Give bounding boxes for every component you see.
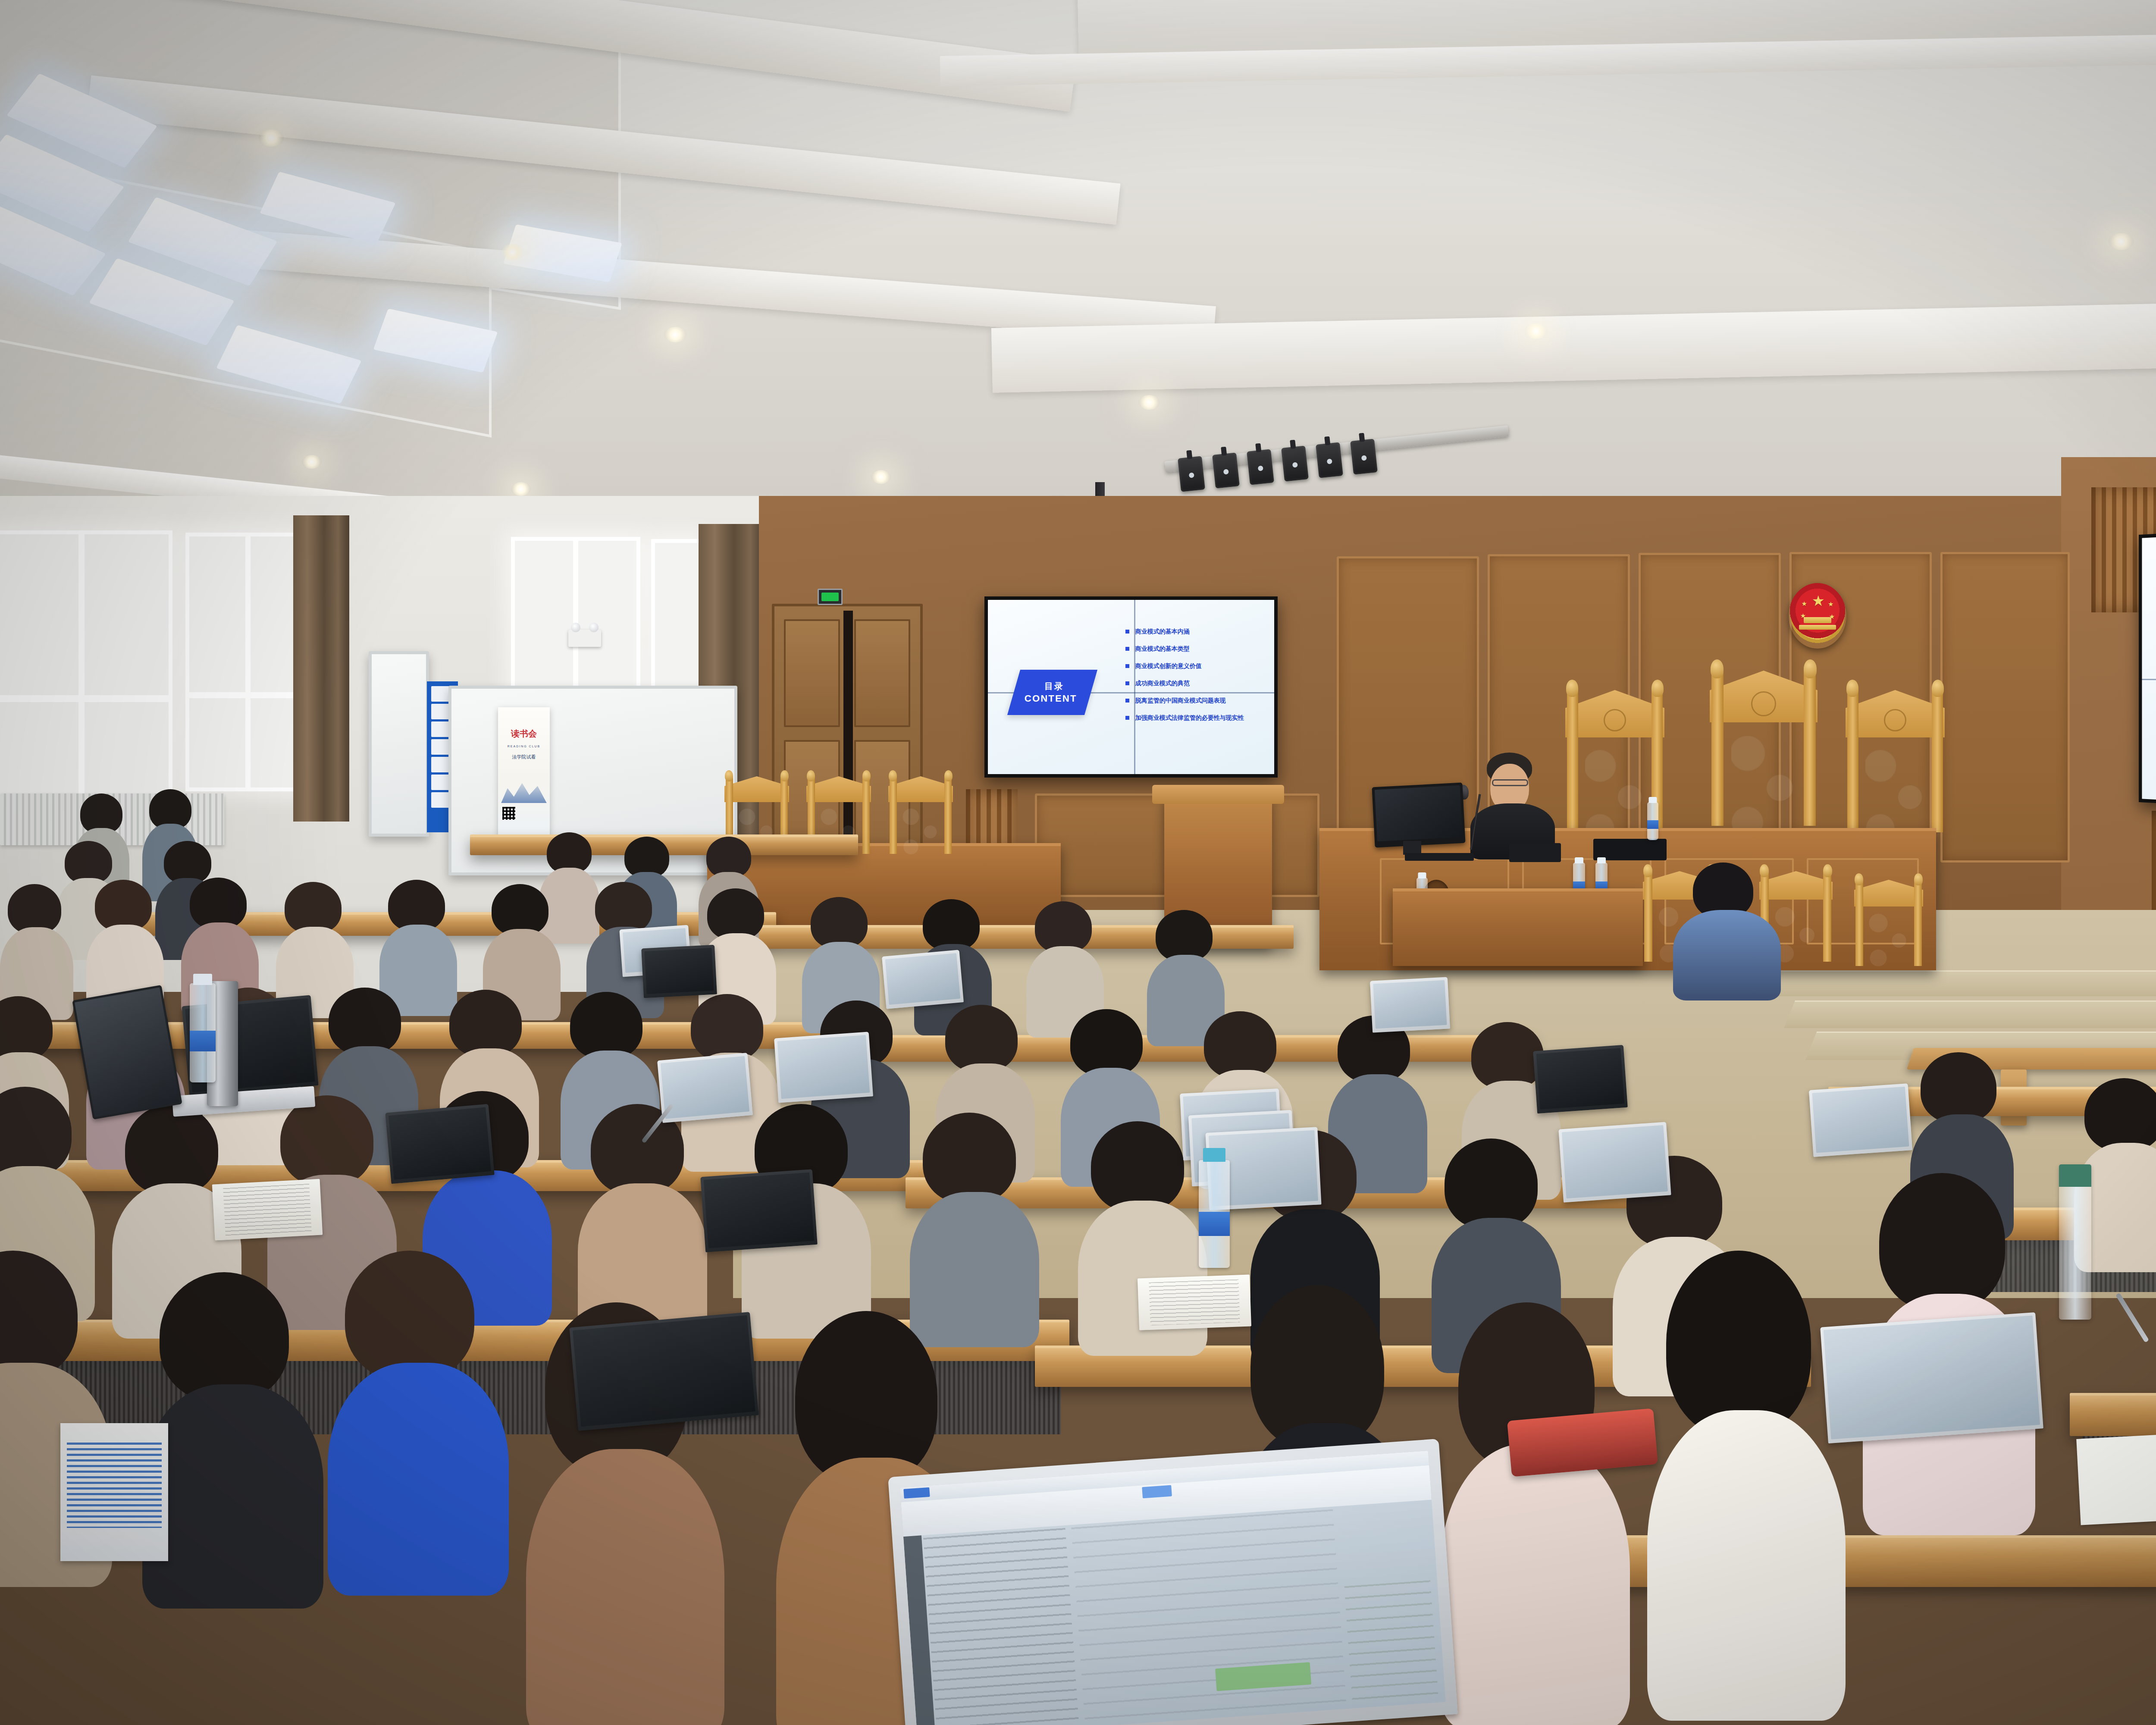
student-desk-row (2070, 1393, 2156, 1436)
foreground-laptop[interactable] (888, 1439, 1458, 1725)
side-chair (888, 776, 953, 888)
side-chair (806, 776, 871, 888)
counsel-table (1393, 888, 1643, 966)
projection-screen-center: 目录 CONTENT 商业模式的基本内涵 商业模式的基本类型 商业模式创新的意义… (984, 596, 1278, 778)
water-bottle (1647, 802, 1658, 840)
app-right-pane (1344, 1580, 1438, 1705)
stage-spotlight (1316, 442, 1343, 478)
student (1647, 1251, 1846, 1703)
bullet-icon (1125, 647, 1129, 651)
ceiling-downlight (302, 455, 322, 469)
keyboard (1405, 853, 1474, 861)
bullet-icon (1125, 681, 1129, 685)
poster-mountain-art (501, 775, 547, 803)
bench-monitor (1372, 783, 1465, 848)
student (328, 1251, 509, 1587)
slide-tag-cn: 目录 (1044, 681, 1064, 692)
poster-line2: 法学院试看 (498, 754, 550, 760)
slide-surface-right: 目录 CONTENT 商业模式的基本内涵 商业模式的基本类型 商业模式创新的意义… (2142, 511, 2156, 825)
slide-surface-center: 目录 CONTENT 商业模式的基本内涵 商业模式的基本类型 商业模式创新的意义… (988, 600, 1274, 774)
laptop[interactable] (700, 1169, 818, 1252)
eyeglasses-icon (1492, 779, 1528, 786)
laptop[interactable] (641, 945, 717, 998)
slide-toc-item: 商业模式创新的意义价值 (1125, 662, 1269, 670)
ceiling-downlight (1138, 395, 1160, 410)
stage-spotlight (1247, 449, 1274, 485)
exit-green-plate (821, 593, 839, 601)
qr-code (502, 807, 515, 820)
dais-step (1784, 1000, 2156, 1028)
ceiling-downlight (500, 244, 524, 260)
laptop[interactable] (1820, 1312, 2043, 1443)
wall-panel (1940, 552, 2070, 862)
stage-spotlight (1212, 452, 1240, 488)
open-notebook (212, 1179, 323, 1241)
tissue-box (60, 1423, 168, 1561)
ceiling-downlight (259, 129, 284, 147)
bullet-icon (1125, 664, 1129, 668)
noticeboard (369, 651, 429, 837)
poster-subtitle-en: READING CLUB (498, 745, 550, 748)
side-chair (1854, 880, 1923, 1009)
app-document-pane (923, 1528, 1079, 1725)
exit-sign-icon (818, 589, 843, 605)
ceiling-downlight (2109, 233, 2134, 250)
slide-toc-item: 商业模式的基本内涵 (1125, 628, 1269, 636)
student (578, 1104, 707, 1328)
projection-screen-right: 目录 CONTENT 商业模式的基本内涵 商业模式的基本类型 商业模式创新的意义… (2139, 507, 2156, 830)
open-notebook (1138, 1274, 1251, 1330)
seated-attendee (1669, 862, 1781, 992)
student (1440, 1302, 1630, 1708)
bullet-icon (1125, 716, 1129, 720)
slide-toc-list: 商业模式的基本内涵 商业模式的基本类型 商业模式创新的意义价值 成功商业模式的典… (1125, 628, 1269, 722)
water-bottle (1199, 1160, 1230, 1268)
app-logo-tile (903, 1487, 930, 1499)
laptop[interactable] (1558, 1122, 1671, 1202)
console-unit (1509, 843, 1561, 862)
laptop[interactable] (882, 950, 964, 1009)
ceiling-downlight (664, 327, 686, 342)
app-list-pane (1071, 1509, 1346, 1725)
slide-toc-item: 加强商业模式法律监管的必要性与现实性 (1125, 714, 1269, 722)
ceiling-downlight (511, 482, 531, 496)
reading-club-poster: 读书会 READING CLUB 法学院试看 (498, 707, 550, 837)
glass-water-bottle (2059, 1164, 2091, 1320)
student (0, 884, 73, 1013)
lectern-top (1152, 785, 1284, 804)
slide-toc-item: 成功商业模式的典范 (1125, 680, 1269, 687)
emergency-light (568, 630, 601, 647)
student (142, 1272, 323, 1600)
pen (2115, 1292, 2149, 1342)
ceiling-downlight (871, 470, 891, 484)
laptop[interactable] (385, 1104, 494, 1184)
stage-spotlight (1281, 445, 1309, 481)
slide-toc-item: 脱离监管的中国商业模式问题表现 (1125, 697, 1269, 705)
student (910, 1113, 1039, 1337)
laptop[interactable] (569, 1312, 758, 1431)
laptop[interactable] (1809, 1083, 1912, 1157)
window-left-1 (0, 530, 172, 798)
laptop[interactable] (1533, 1045, 1628, 1113)
national-emblem-icon: ★ ★ ★ ★ ★ (1789, 583, 1846, 649)
ceiling-downlight (1524, 323, 1548, 339)
poster-title: 读书会 (498, 728, 550, 740)
laptop[interactable] (774, 1032, 873, 1103)
app-toolbar-button[interactable] (1142, 1485, 1172, 1499)
laptop[interactable] (657, 1053, 753, 1123)
bullet-icon (1125, 630, 1129, 634)
water-bottle (190, 983, 216, 1082)
lecture-hall-photo: EPSON 读书会 READING (0, 0, 2156, 1725)
stage-spotlight (1178, 456, 1205, 492)
slide-tag-en: CONTENT (1024, 693, 1077, 704)
slide-content-tag: 目录 CONTENT (1007, 670, 1097, 715)
window-curtain (293, 515, 349, 822)
laptop[interactable] (1370, 977, 1450, 1032)
paper-stack (2076, 1424, 2156, 1525)
slide-toc-item: 商业模式的基本类型 (1125, 645, 1269, 653)
stage-spotlight (1350, 439, 1378, 474)
bullet-icon (1125, 699, 1129, 703)
